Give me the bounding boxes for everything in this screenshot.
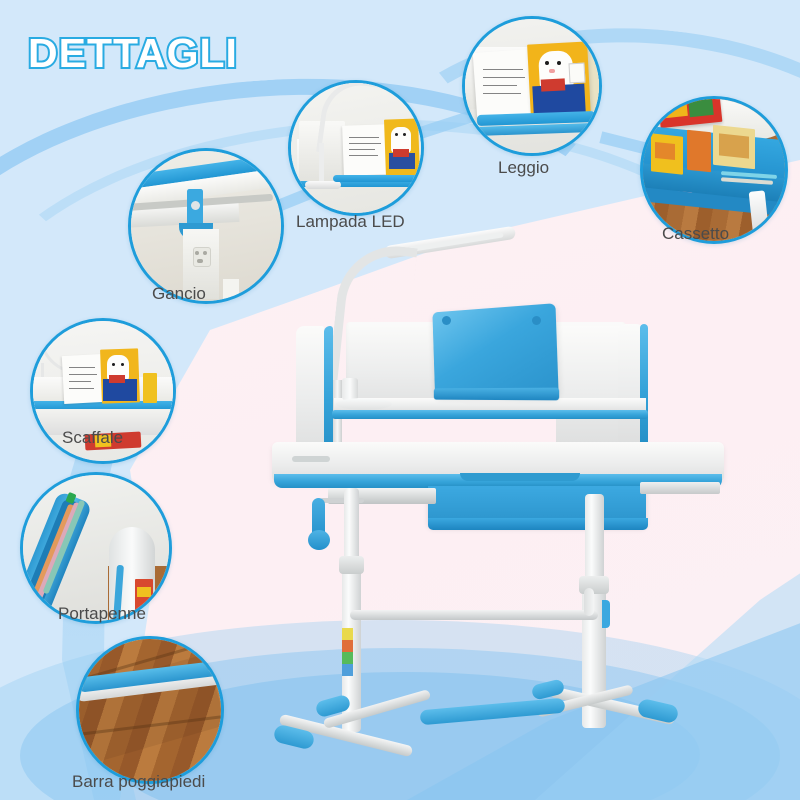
shelf-cup <box>342 378 358 400</box>
desk-drawer-rail-right <box>640 482 720 494</box>
callout-image-lampada-led[interactable] <box>288 80 424 216</box>
height-scale-sticker <box>342 628 353 676</box>
callout-label-lampada-led: Lampada LED <box>296 212 405 232</box>
crank-knob <box>308 530 330 550</box>
callout-label-scaffale: Scaffale <box>62 428 123 448</box>
callout-image-portapenne[interactable] <box>20 472 172 624</box>
callout-image-cassetto[interactable] <box>640 96 788 244</box>
shelf-tray <box>336 398 392 410</box>
hutch-side-panel-left <box>296 326 324 456</box>
product-detail-page: DETTAGLI <box>0 0 800 800</box>
foot-cap-front-right <box>636 698 679 725</box>
page-title: DETTAGLI <box>28 30 238 77</box>
callout-image-gancio[interactable] <box>128 148 284 304</box>
desk-leg-left-collar <box>339 556 364 574</box>
callout-label-portapenne: Portapenne <box>58 604 146 624</box>
book-stand-base <box>434 388 559 401</box>
callout-image-barra-poggiapiedi[interactable] <box>76 636 224 784</box>
footrest-bar <box>420 698 566 726</box>
book-stand-screw-left <box>442 316 451 325</box>
hutch-side-edge-right <box>640 324 648 444</box>
desk-top-notch <box>460 473 580 481</box>
callout-image-leggio[interactable] <box>462 16 602 156</box>
cross-bar-bend <box>584 588 594 616</box>
cross-bar <box>350 610 598 620</box>
desk-drawer-front <box>428 518 648 530</box>
callout-label-leggio: Leggio <box>498 158 549 178</box>
leg-blue-clip <box>602 600 610 628</box>
hutch-shelf-edge <box>332 410 648 419</box>
callout-label-gancio: Gancio <box>152 284 206 304</box>
book-stand-screw-right <box>532 316 541 325</box>
product-illustration <box>300 230 720 770</box>
hutch-side-edge-left <box>324 326 333 457</box>
callout-label-cassetto: Cassetto <box>662 224 729 244</box>
desk-top-slot-left <box>292 456 330 462</box>
callout-label-barra-poggiapiedi: Barra poggiapiedi <box>72 772 205 792</box>
